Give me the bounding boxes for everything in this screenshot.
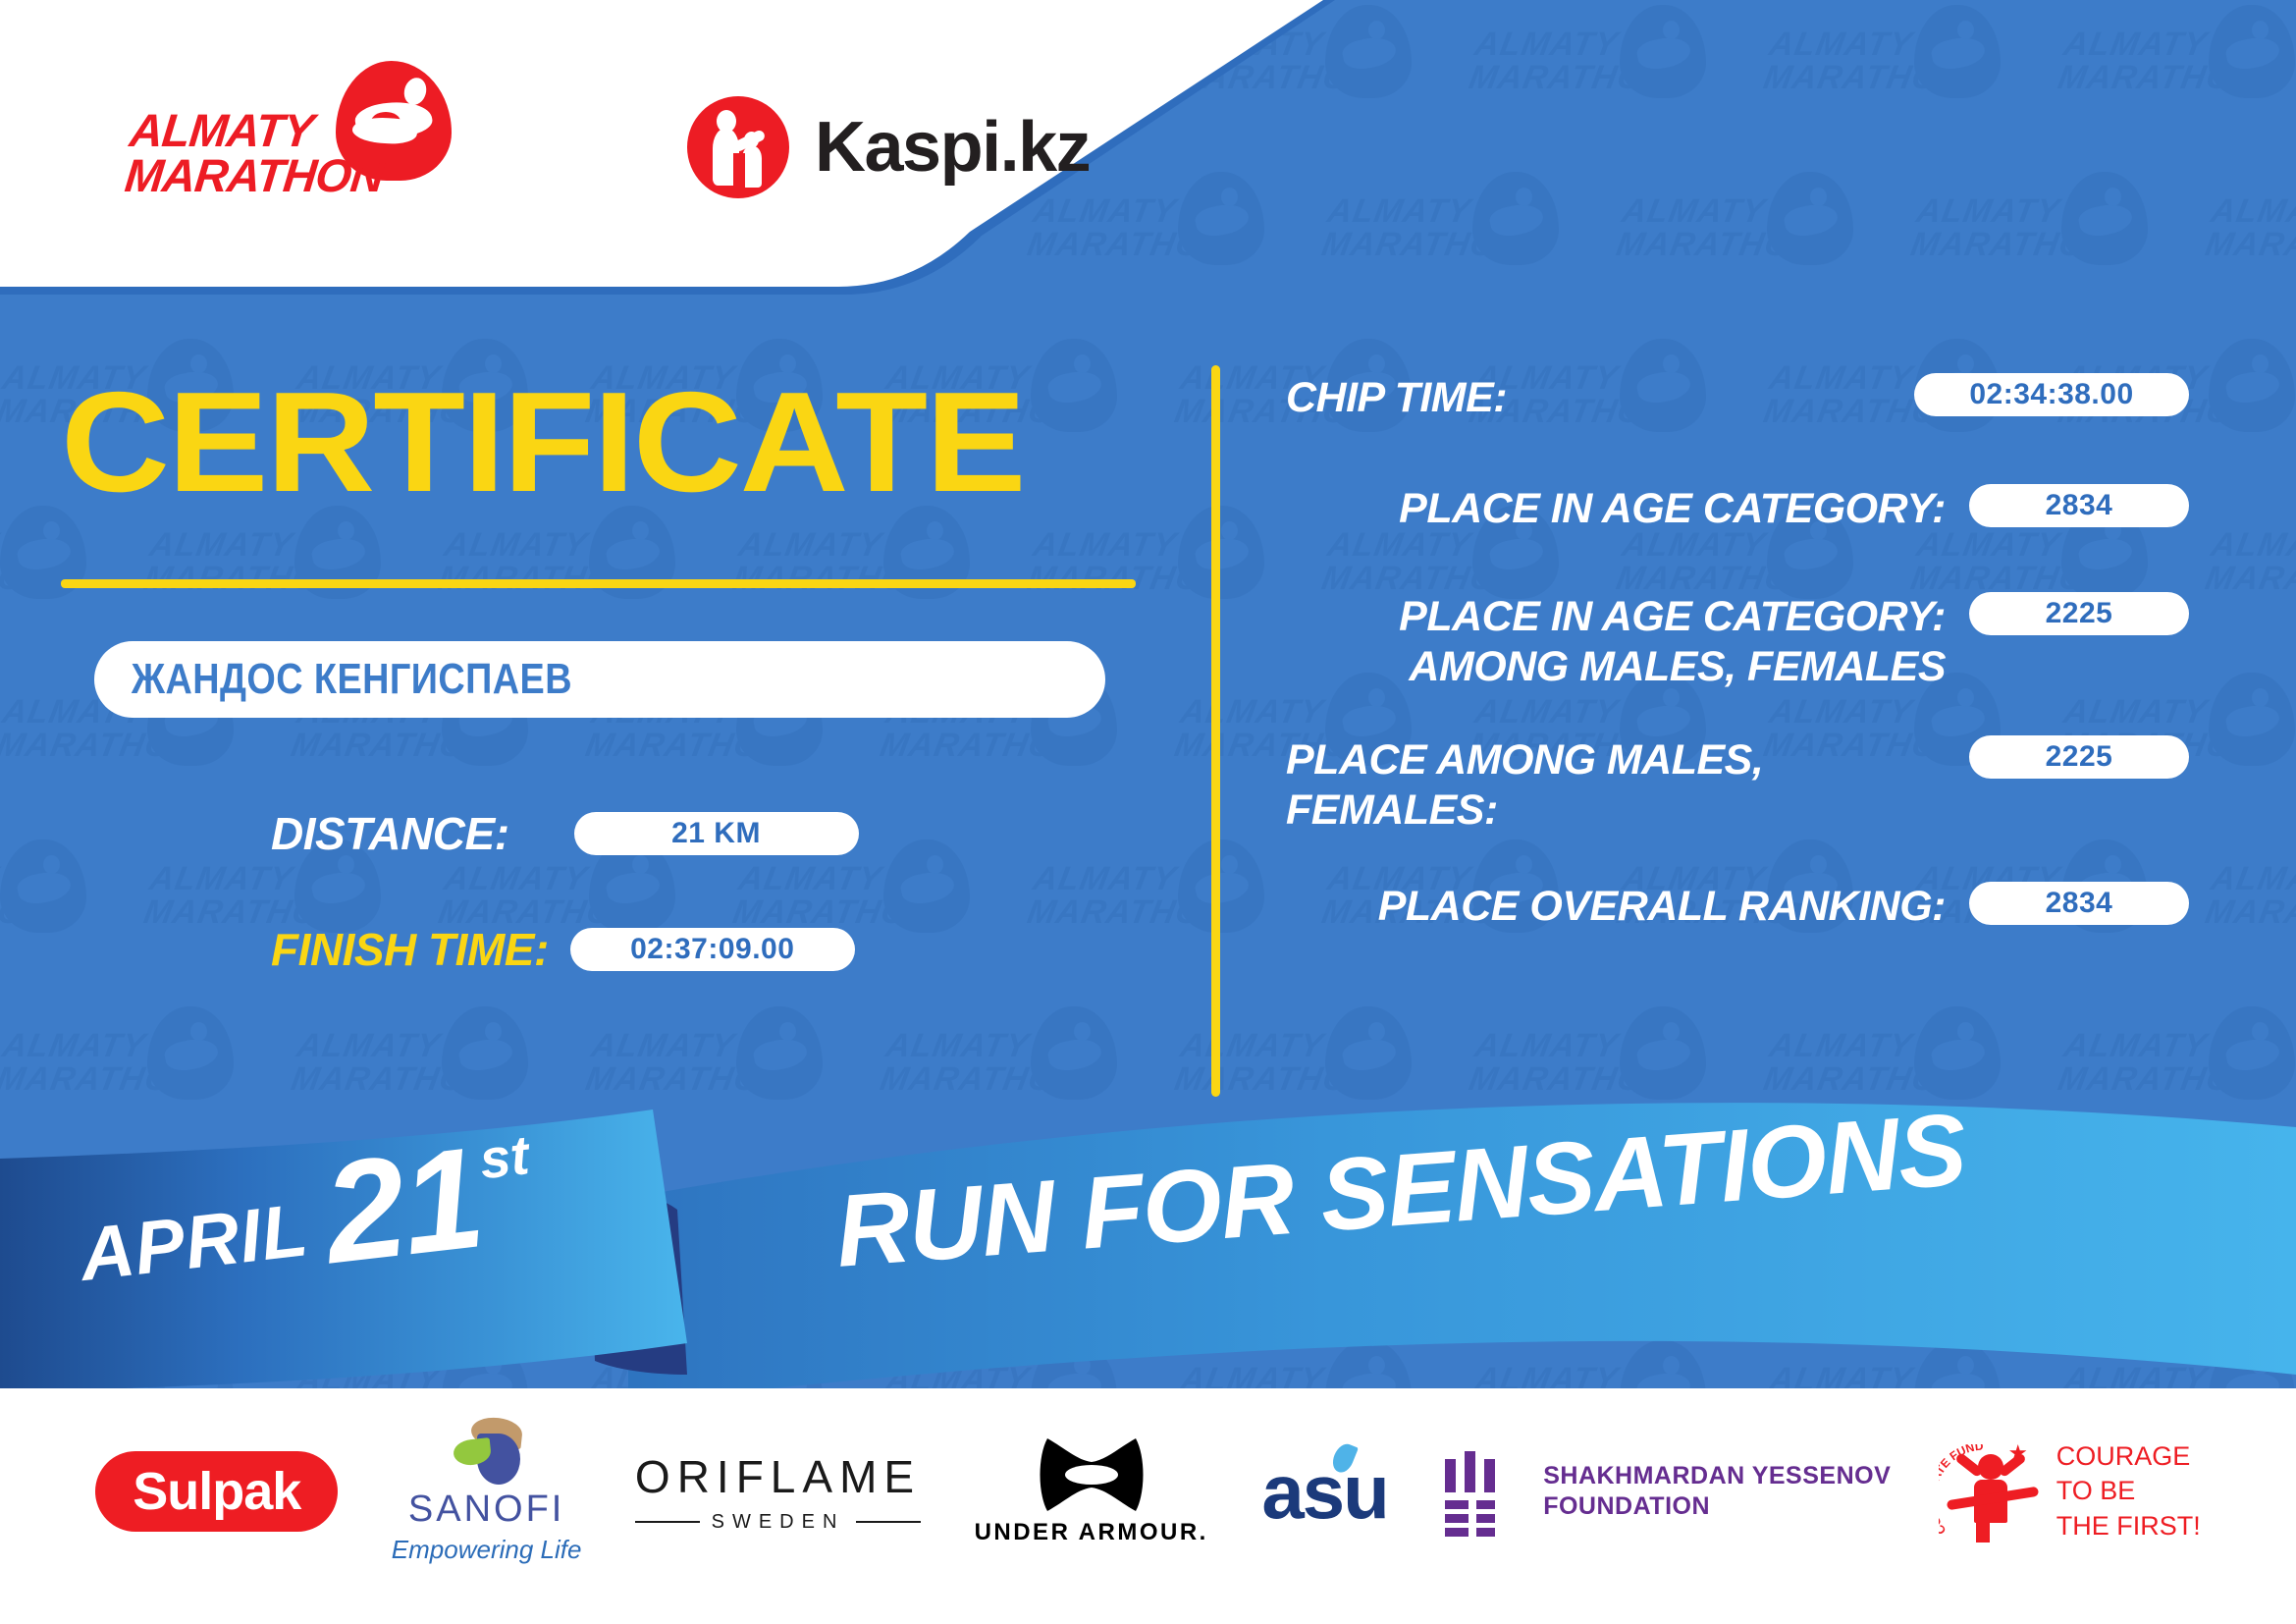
- yessenov-wordmark: SHAKHMARDAN YESSENOV FOUNDATION: [1543, 1461, 1891, 1523]
- stat-row-finish-time: FINISH TIME: 02:37:09.00: [271, 923, 855, 976]
- stat-row-place-age-category: PLACE IN AGE CATEGORY: 2834: [1286, 484, 2189, 534]
- watermark-tile: ALMATYMARATHON: [2061, 0, 2296, 167]
- oriflame-country: SWEDEN: [712, 1511, 845, 1534]
- courage-line3: THE FIRST!: [2056, 1509, 2201, 1543]
- participant-name-field: ЖАНДОС КЕНГИСПАЕВ: [94, 641, 1105, 718]
- results-column: CHIP TIME: 02:34:38.00 PLACE IN AGE CATE…: [1286, 373, 2189, 977]
- almaty-logo-line1: ALMATY: [128, 108, 390, 153]
- kaspi-family-circle-icon: [687, 96, 789, 198]
- title-underline: [61, 579, 1136, 588]
- place-among-males-females-label: PLACE AMONG MALES, FEMALES:: [1286, 735, 1969, 835]
- courage-wordmark: COURAGE TO BE THE FIRST!: [2056, 1439, 2201, 1543]
- stat-row-chip-time: CHIP TIME: 02:34:38.00: [1286, 373, 2189, 423]
- watermark-tile: ALMATYMARATHON: [1472, 0, 1767, 167]
- under-armour-mark-icon: [1030, 1436, 1153, 1513]
- yessenov-mark-icon: [1441, 1449, 1518, 1534]
- place-age-category-among-label-line1: PLACE IN AGE CATEGORY:: [1286, 592, 1946, 642]
- place-among-males-females-label-line2: FEMALES:: [1286, 785, 1946, 836]
- asu-wordmark: asu: [1261, 1448, 1387, 1535]
- watermark-tile: ALMATYMARATHON: [1914, 167, 2209, 334]
- oriflame-rule-right: [856, 1521, 921, 1523]
- sulpak-logo: Sulpak: [95, 1451, 338, 1532]
- place-age-category-among-label: PLACE IN AGE CATEGORY: AMONG MALES, FEMA…: [1286, 592, 1969, 691]
- certificate-page: ALMATYMARATHONALMATYMARATHONALMATYMARATH…: [0, 0, 2296, 1624]
- chip-time-value: 02:34:38.00: [1914, 373, 2189, 416]
- kaspi-wordmark: Kaspi.kz: [815, 107, 1090, 188]
- yessenov-line1: SHAKHMARDAN YESSENOV: [1543, 1461, 1891, 1491]
- place-age-category-among-value: 2225: [1969, 592, 2189, 635]
- watermark-tile: ALMATYMARATHON: [2209, 835, 2296, 1001]
- oriflame-sub: SWEDEN: [635, 1511, 921, 1534]
- place-age-category-among-label-line2: AMONG MALES, FEMALES: [1286, 642, 1946, 692]
- under-armour-wordmark: UNDER ARMOUR.: [975, 1519, 1208, 1546]
- watermark-tile: ALMATYMARATHON: [1620, 167, 1914, 334]
- place-among-males-females-label-line1: PLACE AMONG MALES,: [1286, 735, 1946, 785]
- page-title: CERTIFICATE: [61, 371, 1024, 514]
- sponsor-bar: Sulpak SANOFI Empowering Life ORIFLAME S…: [0, 1388, 2296, 1624]
- distance-label: DISTANCE:: [271, 807, 509, 860]
- yessenov-line2: FOUNDATION: [1543, 1491, 1891, 1522]
- sanofi-mark-icon: [446, 1418, 528, 1483]
- sponsor-sanofi: SANOFI Empowering Life: [392, 1418, 582, 1565]
- stat-row-distance: DISTANCE: 21 KM: [271, 807, 859, 860]
- almaty-marathon-wordmark: ALMATY MARATHON: [123, 108, 390, 198]
- watermark-tile: ALMATYMARATHON: [0, 835, 147, 1001]
- event-day: 21: [318, 1131, 488, 1279]
- place-overall-ranking-label: PLACE OVERALL RANKING:: [1286, 882, 1969, 932]
- watermark-tile: ALMATYMARATHON: [1031, 835, 1325, 1001]
- sanofi-tagline: Empowering Life: [392, 1535, 582, 1565]
- stat-row-place-among-males-females: PLACE AMONG MALES, FEMALES: 2225: [1286, 735, 2189, 835]
- courage-line2: TO BE: [2056, 1474, 2201, 1508]
- sponsor-courage-fund: CORPORATE FUND COURAGE TO BE THE FIRST!: [1945, 1438, 2201, 1544]
- watermark-tile: ALMATYMARATHON: [1767, 0, 2061, 167]
- column-divider: [1211, 365, 1220, 1097]
- sponsor-under-armour: UNDER ARMOUR.: [975, 1436, 1208, 1546]
- oriflame-wordmark: ORIFLAME: [635, 1450, 921, 1503]
- sponsor-sulpak: Sulpak: [95, 1451, 338, 1532]
- courage-runner-icon: [1945, 1438, 2039, 1544]
- oriflame-rule-left: [635, 1521, 700, 1523]
- watermark-tile: ALMATYMARATHON: [1325, 167, 1620, 334]
- sanofi-wordmark: SANOFI: [408, 1489, 564, 1531]
- watermark-tile: ALMATYMARATHON: [2209, 501, 2296, 668]
- sponsor-yessenov-foundation: SHAKHMARDAN YESSENOV FOUNDATION: [1441, 1449, 1891, 1534]
- place-age-category-label: PLACE IN AGE CATEGORY:: [1286, 484, 1969, 534]
- almaty-marathon-logo: ALMATY MARATHON: [128, 61, 452, 223]
- sponsor-oriflame: ORIFLAME SWEDEN: [635, 1450, 921, 1534]
- chip-time-label: CHIP TIME:: [1286, 373, 1914, 423]
- courage-line1: COURAGE: [2056, 1439, 2201, 1474]
- participant-name-value: ЖАНДОС КЕНГИСПАЕВ: [94, 655, 572, 704]
- place-among-males-females-value: 2225: [1969, 735, 2189, 779]
- sponsor-asu: asu: [1261, 1447, 1387, 1537]
- stat-row-place-overall-ranking: PLACE OVERALL RANKING: 2834: [1286, 882, 2189, 932]
- almaty-logo-line2: MARATHON: [123, 153, 385, 198]
- finish-time-label: FINISH TIME:: [271, 923, 549, 976]
- stat-row-place-age-category-among: PLACE IN AGE CATEGORY: AMONG MALES, FEMA…: [1286, 592, 2189, 691]
- place-overall-ranking-value: 2834: [1969, 882, 2189, 925]
- place-age-category-value: 2834: [1969, 484, 2189, 527]
- distance-value: 21 KM: [574, 812, 859, 855]
- asu-logo: asu: [1261, 1447, 1387, 1537]
- kaspi-logo: Kaspi.kz: [687, 96, 1090, 198]
- finish-time-value: 02:37:09.00: [570, 928, 855, 971]
- watermark-tile: ALMATYMARATHON: [2209, 167, 2296, 334]
